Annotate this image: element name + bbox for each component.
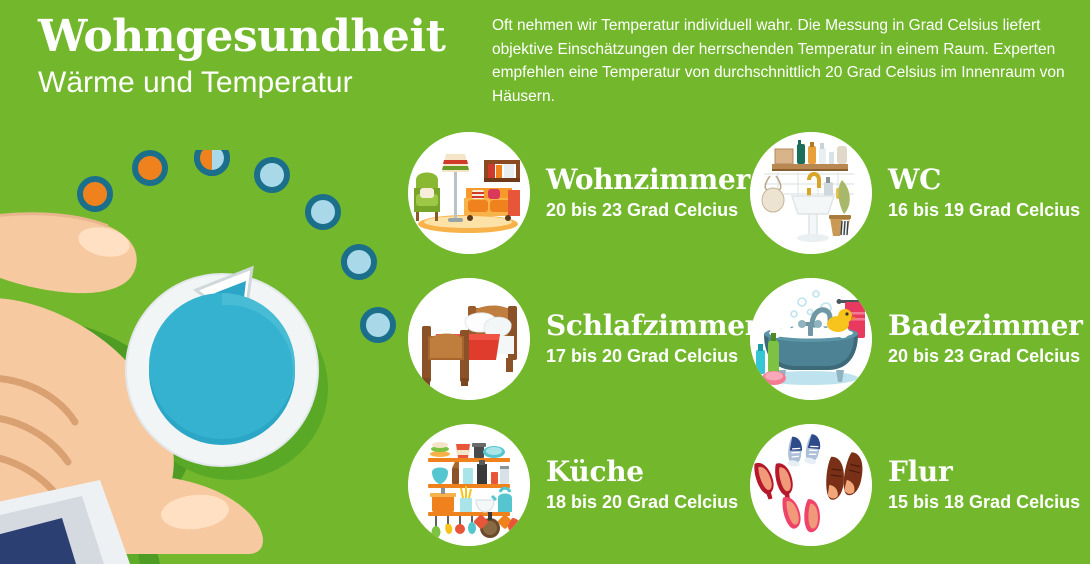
thermostat-dial [126,268,318,466]
room-item-flur: Flur 15 bis 18 Grad Celcius [750,424,1080,546]
room-temperature: 17 bis 20 Grad Celcius [546,347,759,367]
room-text-block: Küche 18 bis 20 Grad Celcius [546,457,738,513]
room-text-block: Schlafzimmer 17 bis 20 Grad Celcius [546,311,759,367]
room-item-wohnzimmer: Wohnzimmer 20 bis 23 Grad Celcius [408,132,750,254]
room-text-block: Badezimmer 20 bis 23 Grad Celcius [888,311,1083,367]
intro-paragraph: Oft nehmen wir Temperatur individuell wa… [492,14,1072,108]
header-block: Wohngesundheit Wärme und Temperatur [38,14,468,99]
room-name: Küche [546,457,738,486]
room-name: Wohnzimmer [546,165,750,194]
room-temperature: 16 bis 19 Grad Celcius [888,201,1080,221]
living-room-icon [408,132,530,254]
kitchen-shelf-icon [408,424,530,546]
room-item-schlafzimmer: Schlafzimmer 17 bis 20 Grad Celcius [408,278,759,400]
room-temperature: 18 bis 20 Grad Celcius [546,493,738,513]
room-name: Badezimmer [888,311,1083,340]
infographic-poster: Wohngesundheit Wärme und Temperatur Oft … [0,0,1090,564]
room-item-kueche: Küche 18 bis 20 Grad Celcius [408,424,738,546]
room-text-block: Flur 15 bis 18 Grad Celcius [888,457,1080,513]
room-name: Schlafzimmer [546,311,759,340]
bathtub-icon [750,278,872,400]
room-name: Flur [888,457,1080,486]
page-subtitle: Wärme und Temperatur [38,66,468,99]
room-temperature: 15 bis 18 Grad Celcius [888,493,1080,513]
room-name: WC [888,165,1080,194]
room-item-wc: WC 16 bis 19 Grad Celcius [750,132,1080,254]
bed-icon [408,278,530,400]
room-temperature: 20 bis 23 Grad Celcius [888,347,1083,367]
wc-sink-icon [750,132,872,254]
shoes-icon [750,424,872,546]
hand-thermostat-illustration [0,150,420,564]
room-text-block: Wohnzimmer 20 bis 23 Grad Celcius [546,165,750,221]
room-temperature: 20 bis 23 Grad Celcius [546,201,750,221]
room-item-badezimmer: Badezimmer 20 bis 23 Grad Celcius [750,278,1083,400]
rooms-grid: Wohnzimmer 20 bis 23 Grad Celcius [408,132,1086,556]
room-text-block: WC 16 bis 19 Grad Celcius [888,165,1080,221]
page-title: Wohngesundheit [38,14,468,60]
